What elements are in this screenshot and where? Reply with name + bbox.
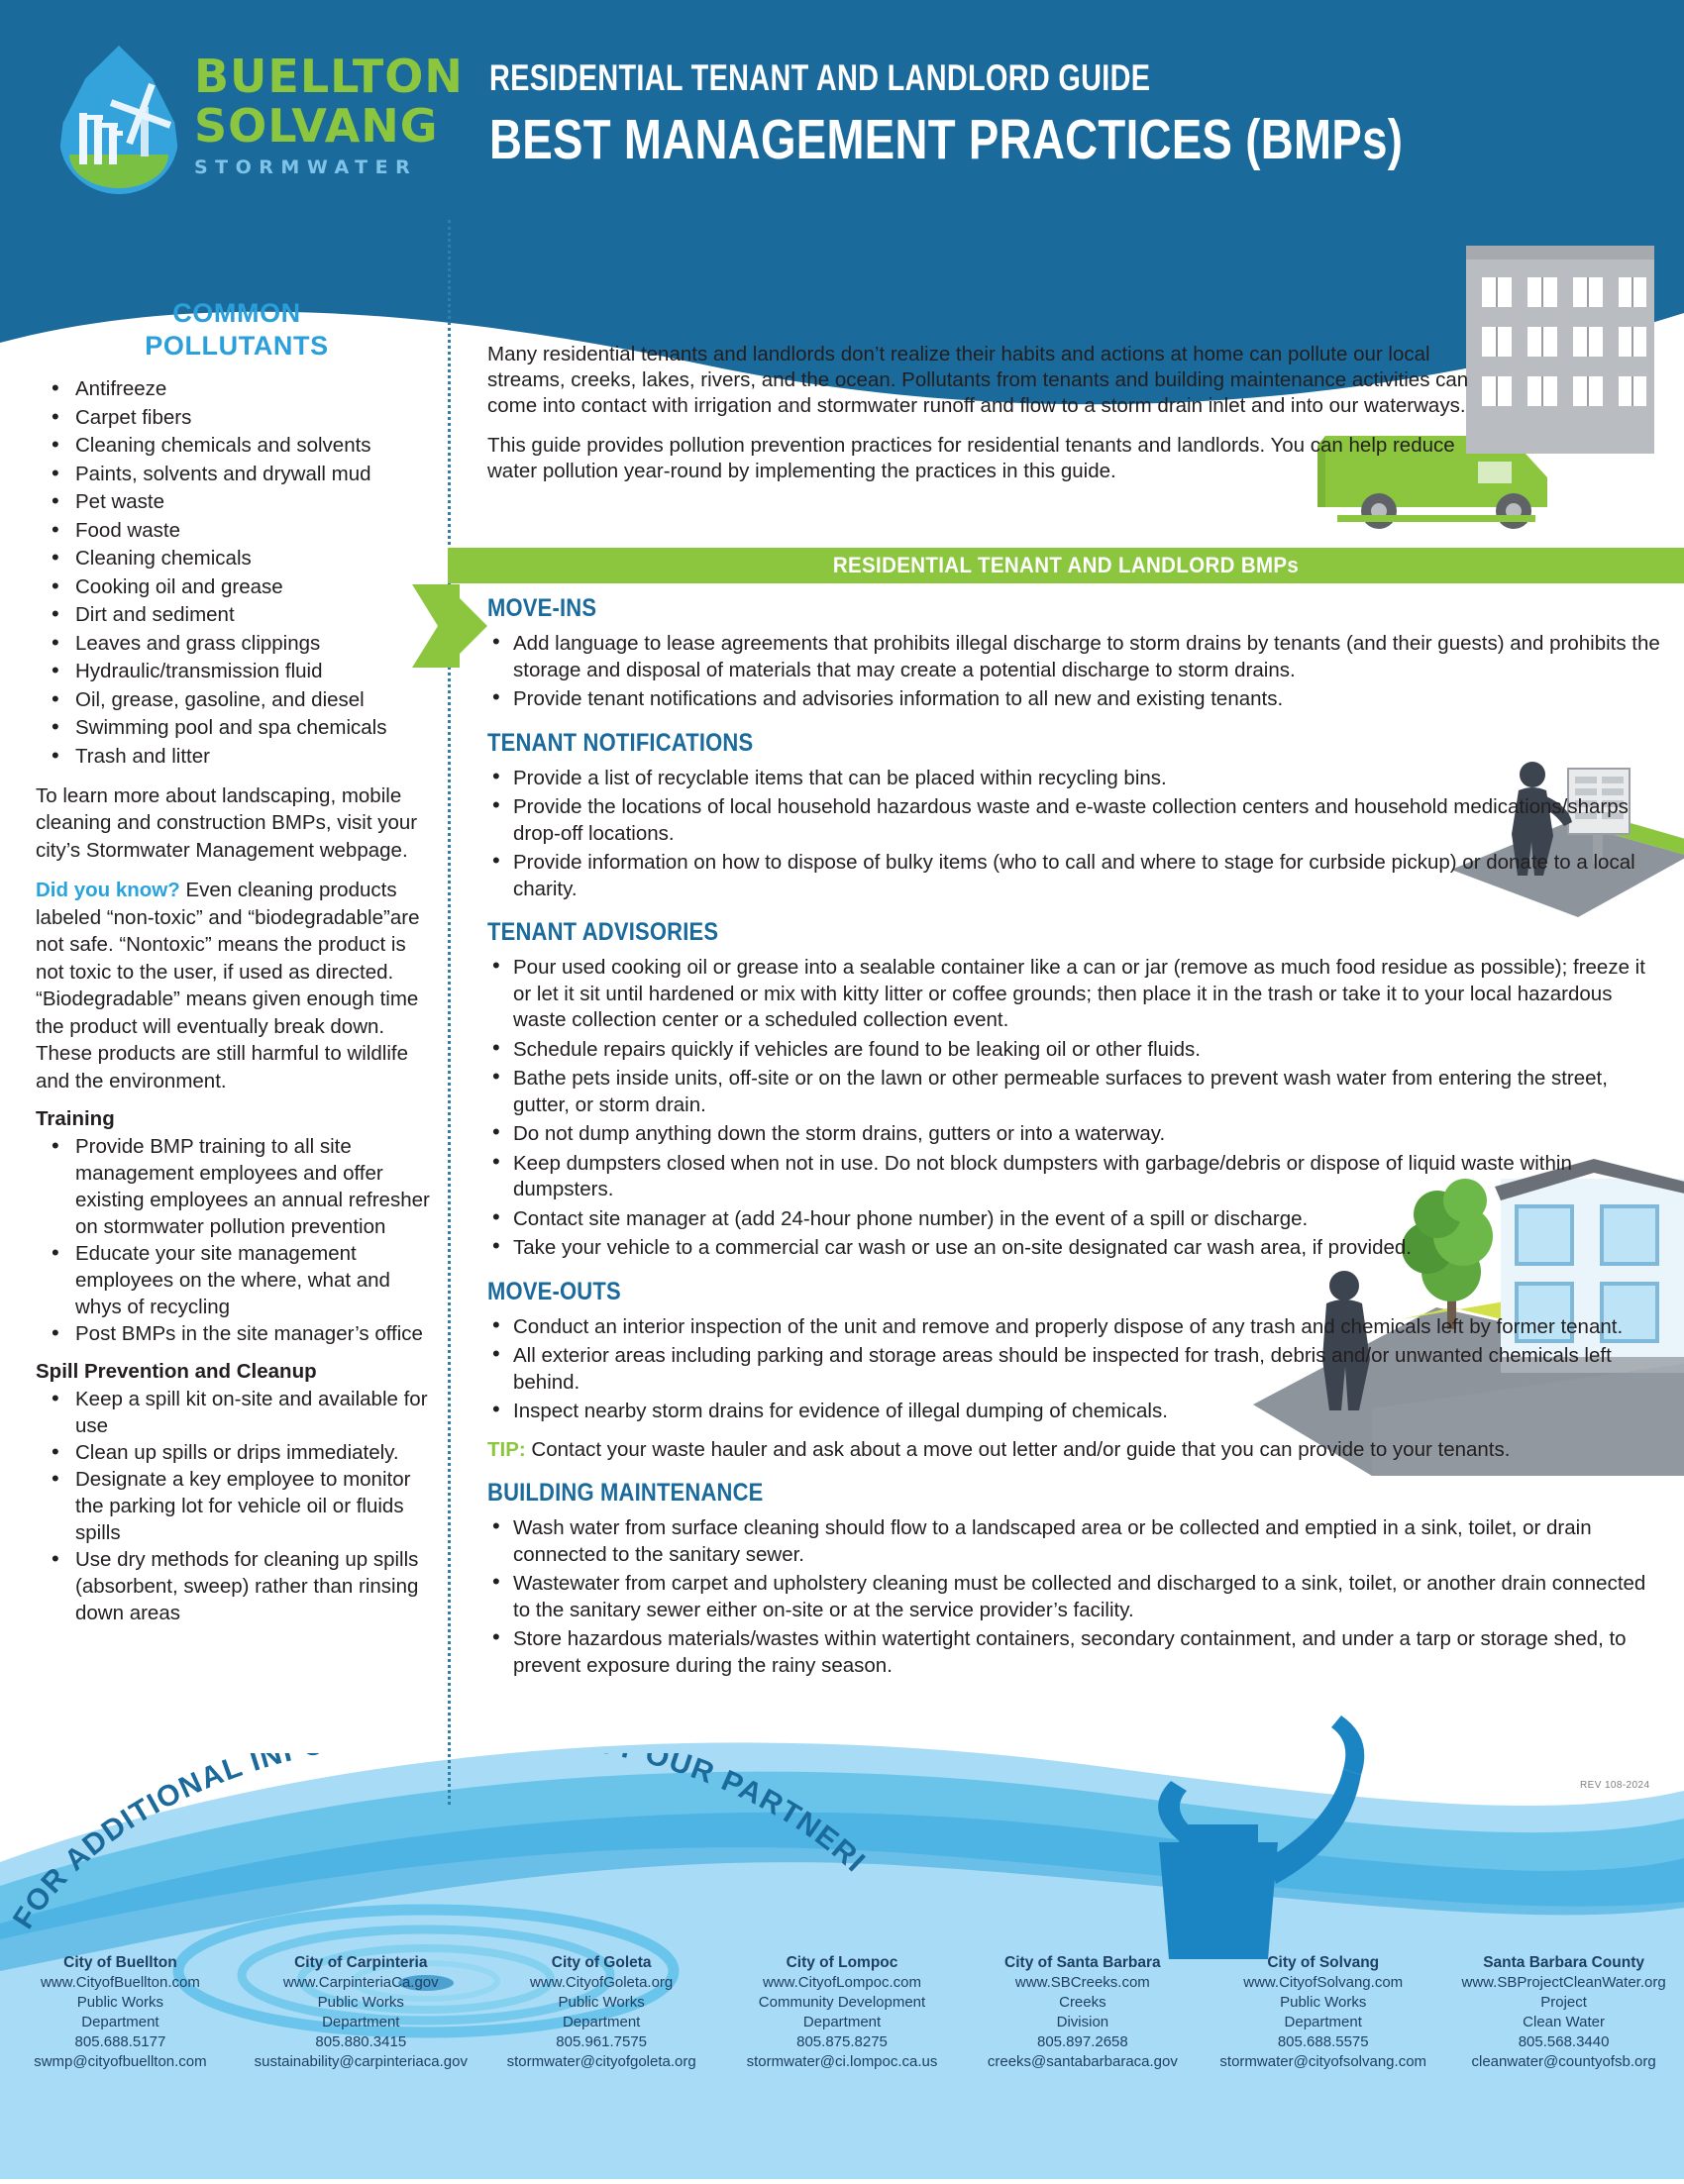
- agency-email[interactable]: stormwater@cityofgoleta.org: [485, 2052, 718, 2072]
- list-item: Provide tenant notifications and advisor…: [487, 686, 1666, 713]
- section-heading-tenant-advisories: TENANT ADVISORIES: [487, 918, 1525, 947]
- agency-website[interactable]: www.CarpinteriaCa.gov: [245, 1973, 477, 1993]
- about-section: ABOUT THIS GUIDE Many residential tenant…: [487, 293, 1636, 484]
- spill-prevention-heading: Spill Prevention and Cleanup: [36, 1360, 438, 1384]
- about-paragraph-2: This guide provides pollution prevention…: [487, 433, 1488, 484]
- list-item: Cleaning chemicals: [46, 545, 438, 572]
- agency-dept-line-2: Department: [726, 2013, 959, 2032]
- list-item: Educate your site management employees o…: [46, 1240, 438, 1320]
- list-item: Carpet fibers: [46, 404, 438, 431]
- agency-email[interactable]: stormwater@ci.lompoc.ca.us: [726, 2052, 959, 2072]
- list-item: Dirt and sediment: [46, 601, 438, 628]
- contact-column: City of Solvang www.CityofSolvang.com Pu…: [1203, 1953, 1443, 2072]
- agency-phone[interactable]: 805.875.8275: [726, 2032, 959, 2052]
- bmp-band: RESIDENTIAL TENANT AND LANDLORD BMPs: [448, 548, 1684, 583]
- section-heading-move-ins: MOVE-INS: [487, 594, 1525, 623]
- about-paragraph-1: Many residential tenants and landlords d…: [487, 342, 1488, 419]
- contact-column: City of Carpinteria www.CarpinteriaCa.go…: [241, 1953, 481, 2072]
- agency-phone[interactable]: 805.688.5575: [1207, 2032, 1439, 2052]
- list-item: Clean up spills or drips immediately.: [46, 1439, 438, 1466]
- agency-name: City of Buellton: [4, 1953, 237, 1973]
- list-item: Bathe pets inside units, off-site or on …: [487, 1066, 1666, 1118]
- contact-column: City of Buellton www.CityofBuellton.com …: [0, 1953, 241, 2072]
- agency-website[interactable]: www.SBCreeks.com: [966, 1973, 1199, 1993]
- agency-name: City of Carpinteria: [245, 1953, 477, 1973]
- list-item: Hydraulic/transmission fluid: [46, 658, 438, 684]
- list-item: Wash water from surface cleaning should …: [487, 1515, 1666, 1568]
- list-item: Provide information on how to dispose of…: [487, 850, 1666, 902]
- agency-dept-line-2: Clean Water: [1447, 2013, 1680, 2032]
- move-outs-list: Conduct an interior inspection of the un…: [487, 1314, 1666, 1425]
- page-title: BEST MANAGEMENT PRACTICES (BMPs): [489, 107, 1403, 172]
- contact-column: Santa Barbara County www.SBProjectCleanW…: [1443, 1953, 1684, 2072]
- bmp-band-title: RESIDENTIAL TENANT AND LANDLORD BMPs: [491, 548, 1641, 583]
- agency-dept-line-1: Project: [1447, 1993, 1680, 2013]
- spill-prevention-list: Keep a spill kit on-site and available f…: [46, 1386, 438, 1626]
- page-header: BUELLTON SOLVANG STORMWATER RESIDENTIAL …: [0, 0, 1684, 228]
- list-item: Provide BMP training to all site managem…: [46, 1133, 438, 1240]
- list-item: Contact site manager at (add 24-hour pho…: [487, 1206, 1666, 1233]
- list-item: Keep a spill kit on-site and available f…: [46, 1386, 438, 1439]
- section-heading-move-outs: MOVE-OUTS: [487, 1278, 1525, 1306]
- tenant-advisories-list: Pour used cooking oil or grease into a s…: [487, 955, 1666, 1262]
- list-item: Swimming pool and spa chemicals: [46, 714, 438, 741]
- list-item: Designate a key employee to monitor the …: [46, 1466, 438, 1546]
- list-item: Store hazardous materials/wastes within …: [487, 1626, 1666, 1679]
- green-arrow-icon: [412, 584, 487, 668]
- windmill-icon: [119, 97, 170, 156]
- sidebar: COMMON POLLUTANTS Antifreeze Carpet fibe…: [36, 297, 438, 1626]
- did-you-know-label: Did you know?: [36, 879, 180, 901]
- list-item: Wastewater from carpet and upholstery cl…: [487, 1571, 1666, 1623]
- list-item: Take your vehicle to a commercial car wa…: [487, 1235, 1666, 1262]
- contact-column: City of Santa Barbara www.SBCreeks.com C…: [962, 1953, 1203, 2072]
- agency-dept-line-2: Department: [4, 2013, 237, 2032]
- tip-paragraph: TIP: Contact your waste hauler and ask a…: [487, 1437, 1527, 1464]
- agency-name: City of Solvang: [1207, 1953, 1439, 1973]
- revision-mark: REV 108-2024: [1580, 1780, 1649, 1791]
- list-item: Pet waste: [46, 488, 438, 515]
- sidebar-title-line-1: COMMON: [172, 298, 301, 328]
- agency-website[interactable]: www.CityofLompoc.com: [726, 1973, 959, 1993]
- contact-column: City of Lompoc www.CityofLompoc.com Comm…: [722, 1953, 963, 2072]
- agency-name: City of Lompoc: [726, 1953, 959, 1973]
- list-item: Keep dumpsters closed when not in use. D…: [487, 1151, 1666, 1203]
- tip-text: Contact your waste hauler and ask about …: [526, 1438, 1511, 1461]
- learn-more-paragraph: To learn more about landscaping, mobile …: [36, 782, 438, 865]
- section-heading-tenant-notifications: TENANT NOTIFICATIONS: [487, 729, 1525, 758]
- sidebar-title: COMMON POLLUTANTS: [36, 297, 438, 363]
- logo-line-2: SOLVANG: [194, 101, 464, 151]
- list-item: Use dry methods for cleaning up spills (…: [46, 1546, 438, 1626]
- footer-banner: FOR ADDITIONAL INFORMATION CONTACT OUR P…: [0, 1753, 892, 1951]
- agency-dept-line-1: Community Development: [726, 1993, 959, 2013]
- sidebar-title-line-2: POLLUTANTS: [145, 331, 328, 361]
- agency-email[interactable]: cleanwater@countyofsb.org: [1447, 2052, 1680, 2072]
- list-item: Pour used cooking oil or grease into a s…: [487, 955, 1666, 1034]
- header-subtitle: RESIDENTIAL TENANT AND LANDLORD GUIDE: [489, 57, 1380, 99]
- svg-text:FOR ADDITIONAL INFORMATION CON: FOR ADDITIONAL INFORMATION CONTACT OUR P…: [0, 1753, 872, 1934]
- about-title: ABOUT THIS GUIDE: [487, 293, 1476, 332]
- agency-website[interactable]: www.CityofSolvang.com: [1207, 1973, 1439, 1993]
- agency-name: City of Goleta: [485, 1953, 718, 1973]
- list-item: Conduct an interior inspection of the un…: [487, 1314, 1666, 1341]
- logo-text: BUELLTON SOLVANG STORMWATER: [194, 52, 464, 182]
- logo-line-1: BUELLTON: [194, 52, 464, 101]
- list-item: Schedule repairs quickly if vehicles are…: [487, 1037, 1666, 1064]
- training-heading: Training: [36, 1107, 438, 1131]
- pollutants-list: Antifreeze Carpet fibers Cleaning chemic…: [46, 375, 438, 770]
- agency-website[interactable]: www.SBProjectCleanWater.org: [1447, 1973, 1680, 1993]
- list-item: Add language to lease agreements that pr…: [487, 631, 1666, 683]
- list-item: Leaves and grass clippings: [46, 630, 438, 657]
- building-maintenance-list: Wash water from surface cleaning should …: [487, 1515, 1666, 1679]
- list-item: Trash and litter: [46, 743, 438, 770]
- fence-posts-icon: [77, 105, 123, 164]
- agency-phone[interactable]: 805.688.5177: [4, 2032, 237, 2052]
- agency-email[interactable]: stormwater@cityofsolvang.com: [1207, 2052, 1439, 2072]
- agency-dept-line-2: Division: [966, 2013, 1199, 2032]
- move-ins-list: Add language to lease agreements that pr…: [487, 631, 1666, 713]
- agency-dept-line-2: Department: [1207, 2013, 1439, 2032]
- list-item: Cleaning chemicals and solvents: [46, 432, 438, 459]
- agency-dept-line-1: Public Works: [1207, 1993, 1439, 2013]
- agency-name: City of Santa Barbara: [966, 1953, 1199, 1973]
- agency-dept-line-1: Public Works: [4, 1993, 237, 2013]
- list-item: Provide a list of recyclable items that …: [487, 766, 1666, 792]
- bmp-sections: MOVE-INS Add language to lease agreement…: [487, 594, 1666, 1682]
- column-divider: [448, 220, 451, 1805]
- agency-phone[interactable]: 805.568.3440: [1447, 2032, 1680, 2052]
- logo-line-3: STORMWATER: [194, 153, 464, 182]
- list-item: Antifreeze: [46, 375, 438, 402]
- agency-dept-line-2: Department: [245, 2013, 477, 2032]
- header-titles: RESIDENTIAL TENANT AND LANDLORD GUIDE BE…: [489, 57, 1631, 172]
- footer-contacts: City of Buellton www.CityofBuellton.com …: [0, 1953, 1684, 2072]
- agency-phone[interactable]: 805.897.2658: [966, 2032, 1199, 2052]
- agency-email[interactable]: sustainability@carpinteriaca.gov: [245, 2052, 477, 2072]
- agency-dept-line-1: Creeks: [966, 1993, 1199, 2013]
- list-item: Do not dump anything down the storm drai…: [487, 1121, 1666, 1148]
- agency-dept-line-2: Department: [485, 2013, 718, 2032]
- agency-dept-line-1: Public Works: [245, 1993, 477, 2013]
- list-item: Cooking oil and grease: [46, 573, 438, 600]
- list-item: Inspect nearby storm drains for evidence…: [487, 1399, 1666, 1425]
- footer-banner-text: FOR ADDITIONAL INFORMATION CONTACT OUR P…: [0, 1753, 872, 1934]
- list-item: Food waste: [46, 517, 438, 544]
- tip-label: TIP:: [487, 1438, 526, 1461]
- logo: BUELLTON SOLVANG STORMWATER: [48, 38, 434, 201]
- agency-dept-line-1: Public Works: [485, 1993, 718, 2013]
- list-item: Paints, solvents and drywall mud: [46, 461, 438, 487]
- agency-email[interactable]: swmp@cityofbuellton.com: [4, 2052, 237, 2072]
- did-you-know-text: Even cleaning products labeled “non-toxi…: [36, 879, 419, 1092]
- did-you-know-paragraph: Did you know? Even cleaning products lab…: [36, 877, 438, 1094]
- agency-website[interactable]: www.CityofGoleta.org: [485, 1973, 718, 1993]
- training-list: Provide BMP training to all site managem…: [46, 1133, 438, 1347]
- list-item: Oil, grease, gasoline, and diesel: [46, 686, 438, 713]
- agency-email[interactable]: creeks@santabarbaraca.gov: [966, 2052, 1199, 2072]
- agency-phone[interactable]: 805.961.7575: [485, 2032, 718, 2052]
- tenant-notifications-list: Provide a list of recyclable items that …: [487, 766, 1666, 903]
- contact-column: City of Goleta www.CityofGoleta.org Publ…: [481, 1953, 722, 2072]
- section-heading-building-maintenance: BUILDING MAINTENANCE: [487, 1479, 1525, 1508]
- list-item: All exterior areas including parking and…: [487, 1343, 1666, 1396]
- list-item: Provide the locations of local household…: [487, 794, 1666, 847]
- list-item: Post BMPs in the site manager’s office: [46, 1320, 438, 1347]
- agency-website[interactable]: www.CityofBuellton.com: [4, 1973, 237, 1993]
- agency-phone[interactable]: 805.880.3415: [245, 2032, 477, 2052]
- agency-name: Santa Barbara County: [1447, 1953, 1680, 1973]
- water-drop-icon: [59, 46, 178, 194]
